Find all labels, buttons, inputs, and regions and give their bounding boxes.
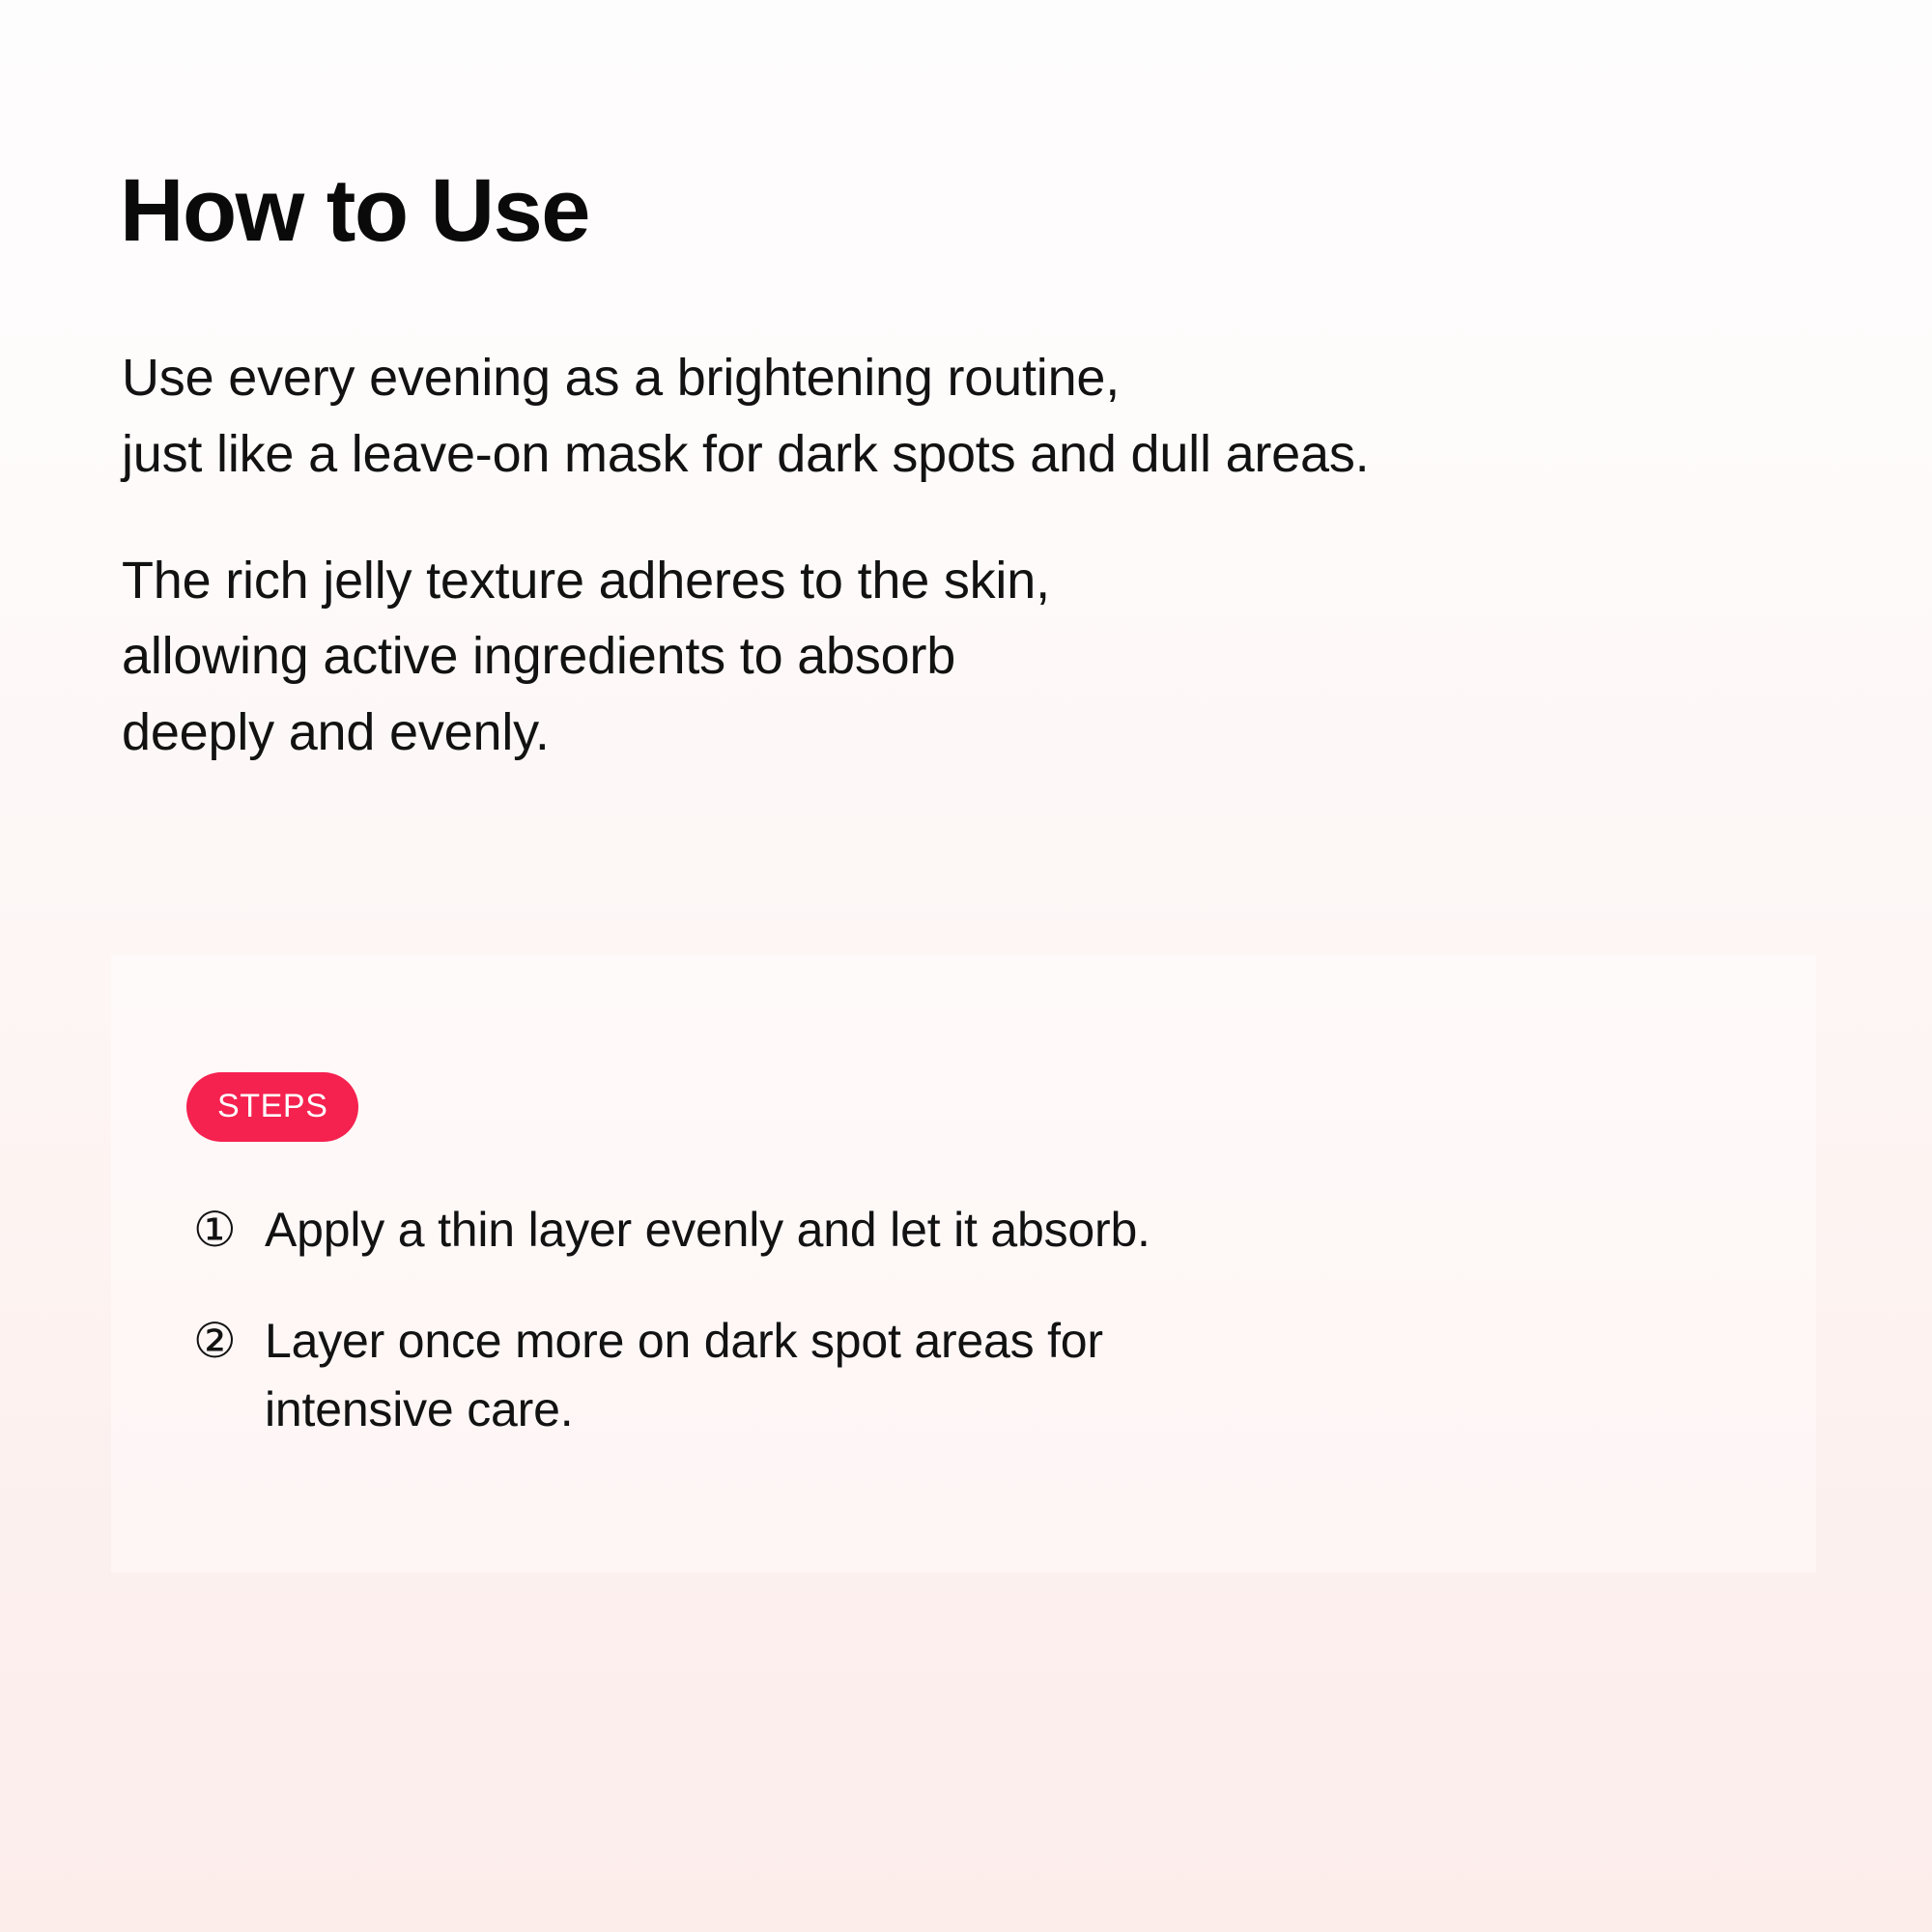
intro-paragraph-2-line-1: The rich jelly texture adheres to the sk… xyxy=(122,543,1822,619)
list-item: ① Apply a thin layer evenly and let it a… xyxy=(193,1196,1700,1264)
intro-copy: Use every evening as a brightening routi… xyxy=(122,340,1822,771)
step-1-line-1: Apply a thin layer evenly and let it abs… xyxy=(265,1196,1700,1264)
how-to-use-page: How to Use Use every evening as a bright… xyxy=(0,0,1932,1932)
circled-number-one-icon: ① xyxy=(193,1196,247,1264)
step-2-line-2: intensive care. xyxy=(265,1376,1700,1444)
intro-paragraph-2-line-2: allowing active ingredients to absorb xyxy=(122,618,1822,695)
step-2-line-1: Layer once more on dark spot areas for xyxy=(265,1307,1700,1376)
step-text: Apply a thin layer evenly and let it abs… xyxy=(265,1196,1700,1264)
circled-number-two-icon: ② xyxy=(193,1307,247,1376)
intro-paragraph-1-line-2: just like a leave-on mask for dark spots… xyxy=(122,416,1822,493)
step-text: Layer once more on dark spot areas for i… xyxy=(265,1307,1700,1444)
steps-badge-row: STEPS xyxy=(186,1072,358,1142)
intro-paragraph-2-line-3: deeply and evenly. xyxy=(122,695,1822,771)
intro-paragraph-2: The rich jelly texture adheres to the sk… xyxy=(122,543,1822,771)
list-item: ② Layer once more on dark spot areas for… xyxy=(193,1307,1700,1444)
intro-paragraph-1: Use every evening as a brightening routi… xyxy=(122,340,1822,493)
steps-card: STEPS ① Apply a thin layer evenly and le… xyxy=(111,954,1816,1573)
intro-paragraph-1-line-1: Use every evening as a brightening routi… xyxy=(122,340,1822,416)
steps-list: ① Apply a thin layer evenly and let it a… xyxy=(193,1196,1700,1444)
status-badge-steps: STEPS xyxy=(186,1072,358,1142)
page-title: How to Use xyxy=(120,164,589,258)
